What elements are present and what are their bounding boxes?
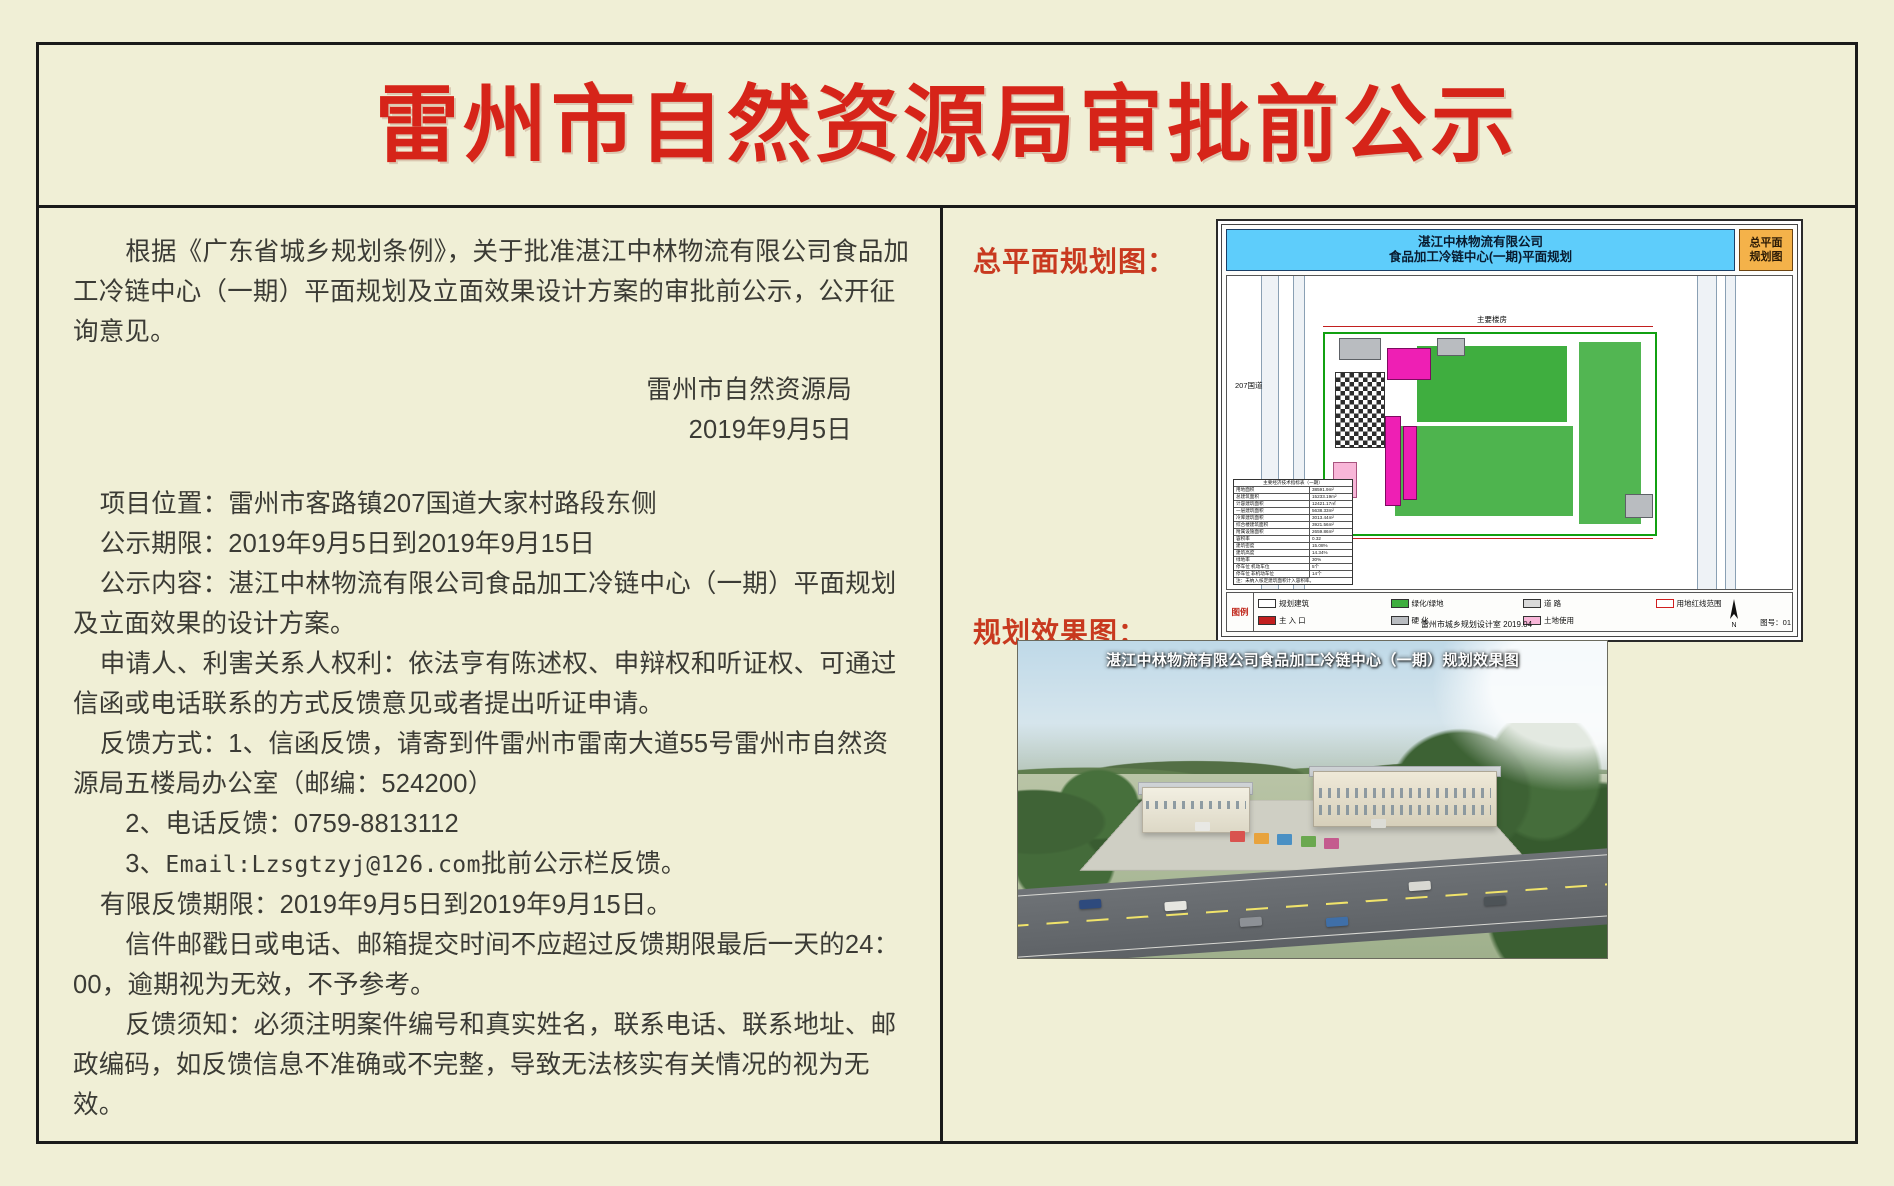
dimension-bottom (1323, 538, 1653, 539)
spec-key: 建筑密度 (1234, 543, 1310, 549)
spec-row: 冷库建筑面积3013.44m² (1234, 515, 1352, 522)
spec-row: 停车位 机动车位5个 (1234, 564, 1352, 571)
spec-key: 冷库建筑面积 (1234, 515, 1310, 521)
spec-row: 容积率0.32 (1234, 536, 1352, 543)
render-vehicle (1484, 895, 1507, 906)
legend-item-label: 规划建筑 (1279, 598, 1309, 609)
publicity-content: 公示内容：湛江中林物流有限公司食品加工冷链中心（一期）平面规划及立面效果的设计方… (73, 564, 910, 644)
legend-swatch-icon (1523, 599, 1541, 608)
building-east-shed (1625, 494, 1653, 518)
road-east (1697, 276, 1717, 589)
render-window-row (1146, 801, 1246, 809)
spec-value: 3013.44m² (1310, 515, 1352, 521)
spec-value: 5638.33m² (1310, 508, 1352, 514)
spec-footnote: 注：未纳入核定建筑面积计入容积率。 (1234, 578, 1352, 584)
notice-text: 根据《广东省城乡规划条例》，关于批准湛江中林物流有限公司食品加工冷链中心（一期）… (73, 232, 910, 1125)
plan-title-line1: 湛江中林物流有限公司 (1418, 235, 1543, 250)
legend-item: 绿化/绿地 (1391, 598, 1524, 609)
spec-table-title-row: 主要经济技术指标表（一期） (1234, 480, 1352, 487)
spec-value: 30% (1310, 557, 1352, 563)
compass-icon: N (1717, 594, 1751, 630)
building-block-c (1403, 426, 1417, 500)
plan-badge-line2: 规划图 (1750, 250, 1783, 264)
legend-title-text: 图例 (1231, 607, 1248, 617)
plan-sheet-number: 图号：01 (1760, 617, 1791, 628)
building-block-b (1385, 416, 1401, 506)
render-vehicle (1165, 901, 1188, 912)
spec-row: 一层建筑面积5638.33m² (1234, 508, 1352, 515)
email-suffix: 批前公示栏反馈。 (481, 850, 687, 878)
feedback-method-phone: 2、电话反馈：0759-8813112 (73, 804, 910, 844)
spec-key: 计容建筑面积 (1234, 501, 1310, 507)
spec-key: 用地面积 (1234, 487, 1310, 493)
spec-key: 综合楼建筑面积 (1234, 522, 1310, 528)
legend-swatch-icon (1391, 599, 1409, 608)
spacer (73, 450, 910, 484)
spec-key: 容积率 (1234, 536, 1310, 542)
spec-footnote-row: 注：未纳入核定建筑面积计入容积率。 (1234, 578, 1352, 584)
drawings-column: 总平面规划图： 规划效果图： 湛江中林物流有限公司 食品加工冷链中心(一期)平面… (943, 208, 1855, 1141)
spec-value: 3921.56m² (1310, 522, 1352, 528)
render-parked-truck-2 (1371, 819, 1386, 828)
poster-title-band: 雷州市自然资源局审批前公示 (39, 45, 1855, 205)
feedback-notes: 反馈须知：必须注明案件编号和真实姓名，联系电话、联系地址、邮政编码，如反馈信息不… (73, 1005, 910, 1125)
render-container-5 (1324, 838, 1339, 849)
spec-row: 建筑高度14.34% (1234, 550, 1352, 557)
public-notice-poster: 雷州市自然资源局审批前公示 根据《广东省城乡规划条例》，关于批准湛江中林物流有限… (0, 0, 1894, 1186)
spec-value: 38591.9m² (1310, 487, 1352, 493)
render-vehicle (1079, 899, 1102, 910)
spec-value: 14.34% (1310, 550, 1352, 556)
feedback-method-letter: 反馈方式：1、信函反馈，请寄到件雷州市雷南大道55号雷州市自然资源局五楼局办公室… (73, 724, 910, 804)
feedback-deadline: 有限反馈期限：2019年9月5日到2019年9月15日。 (73, 885, 910, 925)
spec-row: 绿地率30% (1234, 557, 1352, 564)
spec-row: 用地面积38591.9m² (1234, 487, 1352, 494)
road-label-207: 207国道 (1235, 380, 1263, 391)
spec-key: 建筑高度 (1234, 550, 1310, 556)
notice-intro: 根据《广东省城乡规划条例》，关于批准湛江中林物流有限公司食品加工冷链中心（一期）… (73, 232, 910, 352)
spec-value: 2659.86m² (1310, 529, 1352, 535)
spec-value: 12421.17㎡ (1310, 501, 1352, 507)
signature-date: 2019年9月5日 (73, 410, 852, 450)
dimension-top (1323, 326, 1653, 327)
render-container-4 (1301, 836, 1316, 847)
signature-block: 雷州市自然资源局 2019年9月5日 (73, 370, 910, 450)
spec-value: 5个 (1310, 564, 1352, 570)
deadline-rule: 信件邮戳日或电话、邮箱提交时间不应超过反馈期限最后一天的24：00，逾期视为无效… (73, 925, 910, 1005)
plan-title-banner: 湛江中林物流有限公司 食品加工冷链中心(一期)平面规划 (1226, 229, 1735, 271)
svg-text:N: N (1731, 622, 1736, 627)
spec-value: 15.08% (1310, 543, 1352, 549)
render-vehicle (1240, 917, 1263, 928)
spec-table: 主要经济技术指标表（一期） 用地面积38591.9m² 总建筑面积15233.1… (1233, 479, 1353, 585)
spec-key: 附属设施面积 (1234, 529, 1310, 535)
render-container-1 (1230, 831, 1245, 842)
email-address: Email:Lzsgtzyj@126.com (165, 852, 481, 878)
building-cold-storage (1335, 372, 1385, 448)
render-container-3 (1277, 834, 1292, 845)
spec-row: 建筑密度15.08% (1234, 543, 1352, 550)
site-main-building-note: 主要楼房 (1477, 314, 1507, 325)
plan-footer-text: 雷州市城乡规划设计室 2019.04 (1252, 618, 1701, 632)
render-parked-truck-1 (1195, 822, 1210, 831)
spec-key: 停车位 非机动车位 (1234, 571, 1310, 577)
rendering-image[interactable]: 湛江中林物流有限公司食品加工冷链中心（一期）规划效果图 (1017, 640, 1608, 959)
legend-item: 规划建筑 (1258, 598, 1391, 609)
render-vehicle (1409, 881, 1432, 892)
green-area-south (1395, 426, 1573, 516)
poster-frame: 雷州市自然资源局审批前公示 根据《广东省城乡规划条例》，关于批准湛江中林物流有限… (36, 42, 1858, 1144)
building-block-a (1387, 348, 1431, 380)
applicant-rights: 申请人、利害关系人权利：依法亨有陈述权、申辩权和听证权、可通过信函或电话联系的方… (73, 644, 910, 724)
spec-value: 14个 (1310, 571, 1352, 577)
render-window-row-2 (1319, 805, 1491, 815)
plan-canvas: 207国道 主要楼房 主要经 (1226, 275, 1793, 590)
building-service (1339, 338, 1381, 360)
publicity-period: 公示期限：2019年9月5日到2019年9月15日 (73, 524, 910, 564)
spec-value: 15233.19m² (1310, 494, 1352, 500)
spec-value: 0.32 (1310, 536, 1352, 542)
signature-org: 雷州市自然资源局 (73, 370, 852, 410)
plan-title-line2: 食品加工冷链中心(一期)平面规划 (1389, 250, 1572, 265)
building-gatehouse (1437, 338, 1465, 356)
spec-key: 一层建筑面积 (1234, 508, 1310, 514)
spec-key: 总建筑面积 (1234, 494, 1310, 500)
legend-item-label: 绿化/绿地 (1412, 598, 1444, 609)
site-plan-label: 总平面规划图： (973, 240, 1176, 280)
poster-body: 根据《广东省城乡规划条例》，关于批准湛江中林物流有限公司食品加工冷链中心（一期）… (39, 208, 1855, 1141)
notice-column: 根据《广东省城乡规划条例》，关于批准湛江中林物流有限公司食品加工冷链中心（一期）… (39, 208, 943, 1141)
rendering-caption: 湛江中林物流有限公司食品加工冷链中心（一期）规划效果图 (1018, 649, 1607, 670)
road-east-2 (1725, 276, 1736, 589)
spec-table-title: 主要经济技术指标表（一期） (1234, 480, 1352, 486)
render-vehicle (1326, 917, 1349, 928)
spec-key: 停车位 机动车位 (1234, 564, 1310, 570)
green-area-main (1417, 346, 1567, 422)
spec-row: 附属设施面积2659.86m² (1234, 529, 1352, 536)
legend-swatch-icon (1656, 599, 1674, 608)
page-title: 雷州市自然资源局审批前公示 (375, 83, 1519, 167)
legend-item: 道 路 (1523, 598, 1656, 609)
spec-row: 综合楼建筑面积3921.56m² (1234, 522, 1352, 529)
spec-row: 计容建筑面积12421.17㎡ (1234, 501, 1352, 508)
project-location: 项目位置：雷州市客路镇207国道大家村路段东侧 (73, 484, 910, 524)
legend-item-label: 用地红线范围 (1677, 598, 1722, 609)
feedback-method-email: 3、Email:Lzsgtzyj@126.com批前公示栏反馈。 (73, 844, 910, 885)
legend-swatch-icon (1258, 599, 1276, 608)
spec-row: 停车位 非机动车位14个 (1234, 571, 1352, 578)
legend-title: 图例 (1227, 593, 1254, 631)
site-plan-drawing[interactable]: 湛江中林物流有限公司 食品加工冷链中心(一期)平面规划 总平面 规划图 (1216, 219, 1803, 642)
spec-key: 绿地率 (1234, 557, 1310, 563)
render-container-2 (1254, 833, 1269, 844)
spec-row: 总建筑面积15233.19m² (1234, 494, 1352, 501)
plan-type-badge: 总平面 规划图 (1739, 229, 1793, 271)
plan-badge-line1: 总平面 (1750, 236, 1783, 250)
email-item-number: 3、 (125, 850, 165, 878)
legend-item-label: 道 路 (1544, 598, 1561, 609)
site-plan-sheet: 湛江中林物流有限公司 食品加工冷链中心(一期)平面规划 总平面 规划图 (1221, 224, 1798, 637)
